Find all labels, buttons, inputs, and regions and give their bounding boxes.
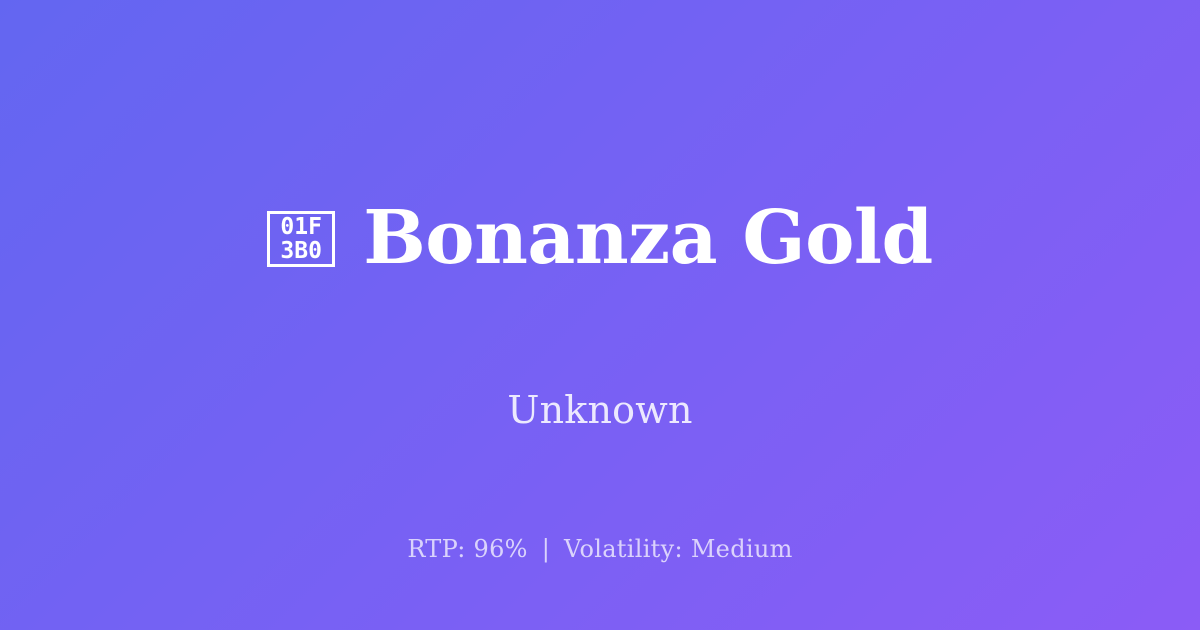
rtp-label: RTP: <box>407 535 465 563</box>
title-row: 01F 3B0 Bonanza Gold <box>267 151 933 328</box>
rtp-value: 96% <box>474 535 528 563</box>
card-subtitle: Unknown <box>507 388 692 434</box>
slot-machine-icon-codepoint-top: 01F <box>280 215 322 239</box>
slot-machine-icon: 01F 3B0 <box>267 211 335 267</box>
slot-machine-icon-codepoint-bottom: 3B0 <box>280 239 322 263</box>
meta-separator: | <box>536 535 556 563</box>
volatility-label: Volatility: <box>564 535 683 563</box>
volatility-value: Medium <box>691 535 793 563</box>
og-card: 01F 3B0 Bonanza Gold Unknown RTP: 96% | … <box>0 0 1200 630</box>
page-title: Bonanza Gold <box>363 200 933 278</box>
card-meta: RTP: 96% | Volatility: Medium <box>0 535 1200 564</box>
